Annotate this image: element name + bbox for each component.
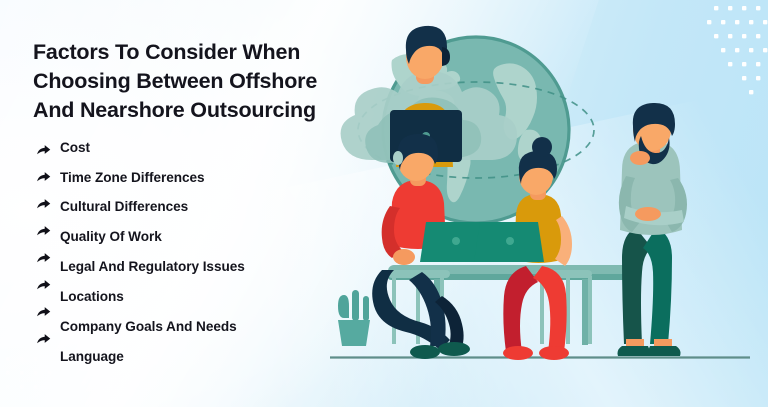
cactus-arm-left <box>338 295 349 318</box>
standing-manager-figure <box>618 103 688 356</box>
curved-arrow-right-icon <box>36 170 53 187</box>
curved-arrow-right-icon <box>36 224 53 241</box>
global-outsourcing-illustration <box>330 0 750 407</box>
seated-left-ear-accessory <box>393 151 403 165</box>
seated-right-hair-bun <box>532 137 552 157</box>
desk-leg-right <box>582 279 588 345</box>
curved-arrow-right-icon <box>36 251 53 268</box>
headline-line-1: Factors To Consider When <box>33 38 363 67</box>
seated-right-shoe-a <box>503 346 533 360</box>
standing-shoe-right <box>646 346 681 356</box>
standing-leg-right <box>643 228 672 344</box>
curved-arrow-right-icon <box>36 305 53 322</box>
cactus-pot <box>338 320 370 346</box>
list-item-label: Company Goals And Needs <box>60 319 237 334</box>
page-title: Factors To Consider When Choosing Betwee… <box>33 38 363 125</box>
seated-right-shoe-b <box>539 346 569 360</box>
cactus-arm-right <box>363 296 369 321</box>
curved-arrow-right-icon <box>36 332 53 349</box>
headline-line-3: And Nearshore Outsourcing <box>33 96 363 125</box>
list-item-label: Legal And Regulatory Issues <box>60 259 245 274</box>
seated-left-hand <box>393 249 415 265</box>
curved-arrow-right-icon <box>36 143 53 160</box>
seated-right-leg-front <box>533 266 567 352</box>
list-item-label: Quality Of Work <box>60 229 162 244</box>
standing-hand-chin <box>630 151 650 165</box>
list-item-label: Cultural Differences <box>60 199 188 214</box>
list-item-label: Locations <box>60 289 124 304</box>
standing-hand-folded <box>635 207 661 221</box>
cactus-stem-center <box>352 290 359 321</box>
infographic-banner: Factors To Consider When Choosing Betwee… <box>0 0 768 407</box>
list-item-label: Time Zone Differences <box>60 170 205 185</box>
list-item-label: Cost <box>60 140 90 155</box>
chair-right-leg-c <box>588 276 592 344</box>
seated-right-laptop-logo <box>506 237 514 245</box>
curved-arrow-right-icon <box>36 278 53 295</box>
list-item-label: Language <box>60 349 124 364</box>
text-column: Factors To Consider When Choosing Betwee… <box>33 38 363 145</box>
curved-arrow-right-icon <box>36 197 53 214</box>
seated-left-shoe-a <box>438 342 470 356</box>
headline-line-2: Choosing Between Offshore <box>33 67 363 96</box>
seated-left-shoe-b <box>410 345 440 359</box>
cactus-plant-graphic <box>338 290 370 346</box>
seated-left-laptop-logo <box>452 237 460 245</box>
